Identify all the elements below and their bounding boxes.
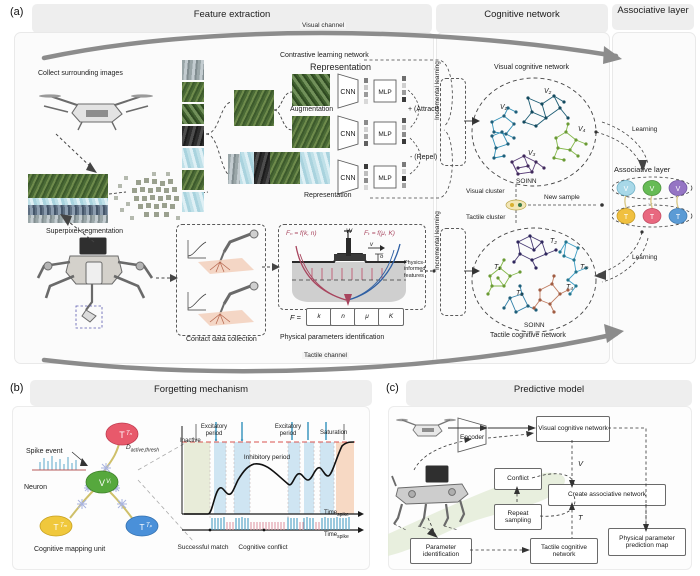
tile-strip-item — [182, 104, 204, 124]
panel-b-header: Forgetting mechanism — [30, 380, 372, 406]
tactile-cluster-t4: T₄ — [566, 284, 573, 292]
param-prefix: F = — [290, 314, 301, 323]
spike-event-label: Spike event — [26, 448, 63, 456]
tactile-cluster-t1: T₁ — [494, 264, 500, 272]
source-image — [234, 90, 274, 126]
chart-label-inhibitory: Inhibitory period — [242, 454, 292, 461]
augmentation-branch-arrow — [272, 82, 296, 142]
tactile-soinn-label: SOINN — [524, 322, 545, 329]
new-sample-connector — [502, 184, 612, 228]
formula-w: W — [346, 228, 352, 235]
figure-root: (a) Feature extraction Cognitive network… — [0, 0, 700, 576]
associative-layer-diagram: V V V T T T · · · — [608, 176, 696, 228]
augmented-image-1 — [292, 74, 330, 106]
param-cell-k: k — [306, 308, 332, 326]
formula-fn: Fₙ = f(k, n) — [286, 230, 317, 237]
tactile-cluster-label: Tactile cluster — [466, 214, 505, 221]
contact-data-label: Contact data collection — [186, 336, 257, 344]
contact-arm-illustration — [180, 228, 262, 332]
contact-to-physics-arrow — [262, 260, 282, 274]
panel-a: (a) Feature extraction Cognitive network… — [4, 2, 696, 370]
edge-label-visual: V — [578, 460, 583, 469]
raster-label-successful-match: Successful match — [176, 544, 230, 551]
chart-label-excitatory-2: Excitatory period — [266, 424, 310, 438]
panel-c-edges — [382, 378, 696, 572]
formula-ft: Fₜ = f(μ, K) — [364, 230, 395, 237]
node-label-tm: Tₘ — [60, 523, 67, 530]
superpixel-to-robot-arrow — [56, 212, 102, 248]
node-label-tn: Tₙ — [126, 431, 132, 438]
param-cell-mu: μ — [354, 308, 380, 326]
augmented-image-2 — [292, 116, 330, 148]
robot-to-contact-arrow — [156, 270, 180, 286]
formula-v: v — [370, 242, 373, 249]
incremental-learning-label-visual: Incremental learning — [434, 34, 441, 120]
chart-label-saturation: Saturation — [320, 430, 347, 437]
time-axis-label-bottom: Timespike — [324, 532, 349, 541]
captured-image-grass — [28, 174, 108, 198]
tile-strip-item — [182, 170, 204, 190]
svg-text:V: V — [99, 478, 105, 488]
new-sample-label: New sample — [544, 194, 580, 201]
raster-label-cognitive-conflict: Cognitive conflict — [236, 544, 290, 551]
param-cell-K: K — [378, 308, 404, 326]
drone-to-image-arrow — [48, 132, 108, 176]
visual-cluster-v2: V₂ — [544, 88, 551, 96]
time-axis-label-top: Timespike — [324, 510, 349, 519]
formula-delta: δ — [380, 254, 383, 261]
incremental-learning-label-tactile: Incremental learning — [434, 184, 441, 270]
svg-text:T: T — [624, 214, 629, 221]
quadruped-robot-icon — [34, 236, 164, 332]
svg-text:T: T — [53, 522, 58, 532]
neuron-label: Neuron — [24, 484, 47, 492]
tactile-cluster-t2: T₂ — [550, 238, 557, 246]
svg-text:V: V — [650, 186, 655, 193]
negative-image-4 — [270, 152, 302, 184]
visual-channel-label: Visual channel — [300, 22, 346, 29]
svg-text:V: V — [624, 186, 629, 193]
terrain-contact-diagram — [282, 228, 420, 306]
svg-text:· · ·: · · · — [648, 201, 656, 207]
tile-strip-item — [182, 148, 204, 168]
tactile-channel-label: Tactile channel — [302, 352, 349, 359]
tile-strip-item — [182, 82, 204, 102]
chart-label-inactive: Inactive — [180, 438, 201, 445]
visual-cluster-v3: V₃ — [528, 150, 535, 158]
visual-network-label: Visual cognitive network — [494, 64, 569, 72]
tactile-network-label: Tactile cognitive network — [490, 332, 566, 340]
cognitive-mapping-unit-label: Cognitive mapping unit — [34, 546, 105, 554]
tactile-soinn-ellipse — [470, 224, 598, 336]
visual-cluster-label: Visual cluster — [466, 188, 505, 195]
learning-label-tactile: Learning — [632, 254, 657, 261]
edge-label-tactile: T — [578, 514, 583, 523]
drone-icon — [42, 86, 150, 134]
arrow-physics-to-incremental — [420, 264, 440, 278]
svg-text:V: V — [676, 186, 681, 193]
chart-label-excitatory-1: Excitatory period — [192, 424, 236, 438]
param-cell-n: n — [330, 308, 356, 326]
svg-text:T: T — [650, 214, 655, 221]
tactile-cluster-t3: T₃ — [516, 290, 523, 298]
collect-images-label: Collect surrounding images — [38, 70, 123, 78]
svg-text:T: T — [676, 214, 681, 221]
panel-c: (c) Predictive model — [382, 378, 696, 572]
tile-strip-item — [182, 126, 204, 146]
threshold-label: Dactive,thresh — [126, 444, 159, 454]
negative-image-5 — [300, 152, 330, 184]
learning-label-visual: Learning — [632, 126, 657, 133]
captured-image-ice — [28, 198, 108, 205]
incremental-learning-box-visual — [440, 78, 466, 166]
panel-b: (b) Forgetting mechanism T V T T — [4, 378, 376, 572]
physics-title: Physical parameters identification — [280, 334, 384, 342]
visual-cluster-v1: V₁ — [500, 104, 507, 112]
tactile-cluster-tm: Tₘ — [580, 264, 589, 272]
visual-cluster-v4: V₄ — [578, 126, 585, 134]
svg-text:T: T — [119, 430, 125, 440]
augmentation-label: Augmentation — [290, 106, 333, 114]
incremental-learning-box-tactile — [440, 228, 466, 316]
tile-strip-item — [182, 192, 204, 212]
node-label-vi: Vᵢ — [106, 479, 111, 486]
tile-strip-item — [182, 60, 204, 80]
panel-b-letter: (b) — [10, 382, 23, 394]
